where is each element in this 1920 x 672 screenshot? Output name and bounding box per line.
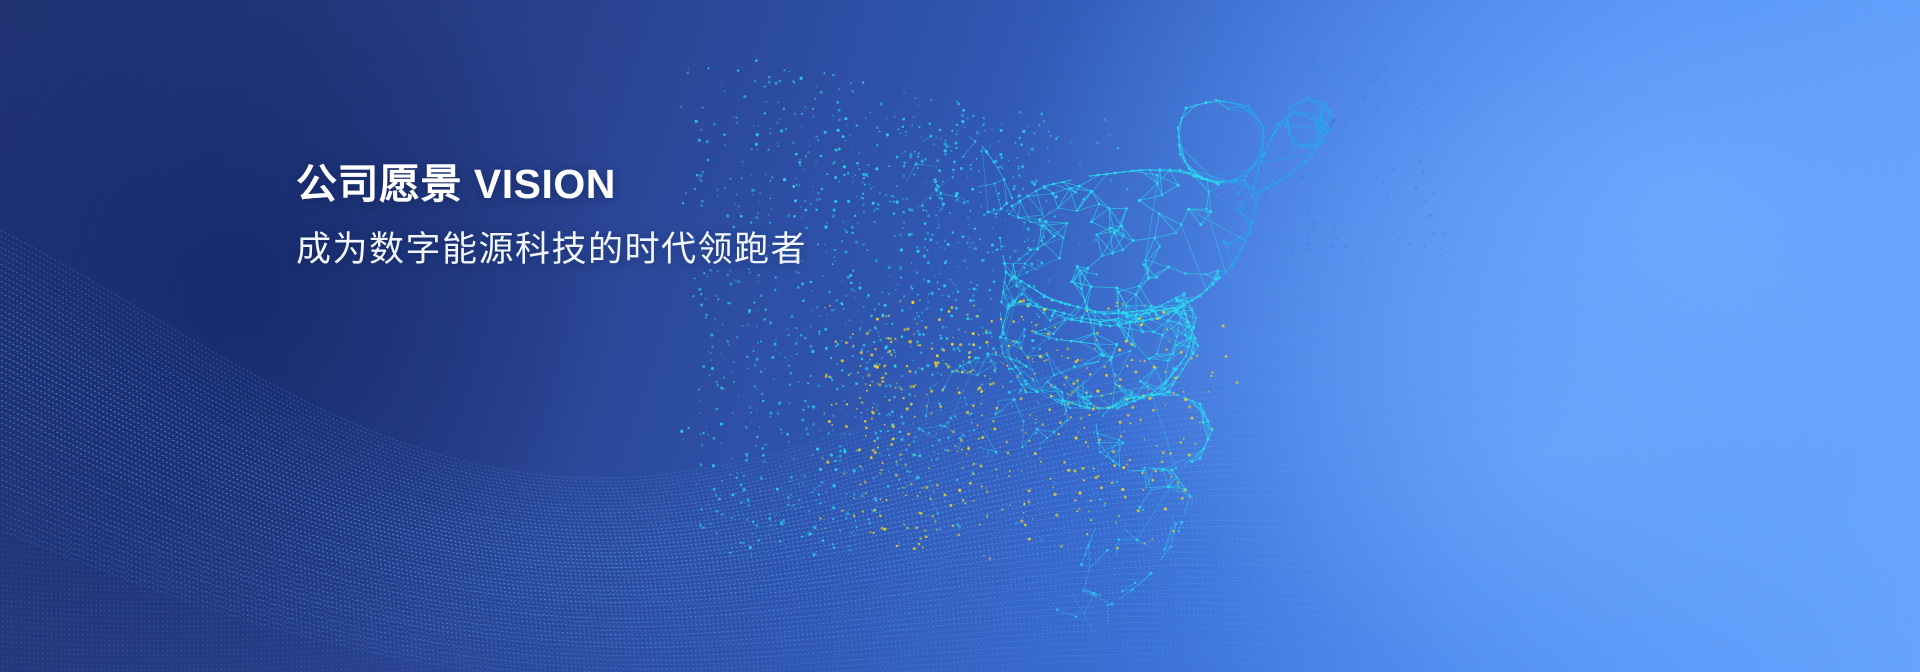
left-vignette-glow — [0, 0, 620, 672]
runner-figure-artwork — [0, 0, 1920, 672]
page-title: 公司愿景 VISION — [296, 160, 807, 208]
wave-pattern-artwork — [0, 0, 1920, 672]
right-highlight-glow — [1100, 72, 1920, 672]
page-subtitle: 成为数字能源科技的时代领跑者 — [296, 229, 807, 271]
vision-banner: 公司愿景 VISION 成为数字能源科技的时代领跑者 — [0, 0, 1920, 672]
vision-text-block: 公司愿景 VISION 成为数字能源科技的时代领跑者 — [296, 160, 807, 271]
